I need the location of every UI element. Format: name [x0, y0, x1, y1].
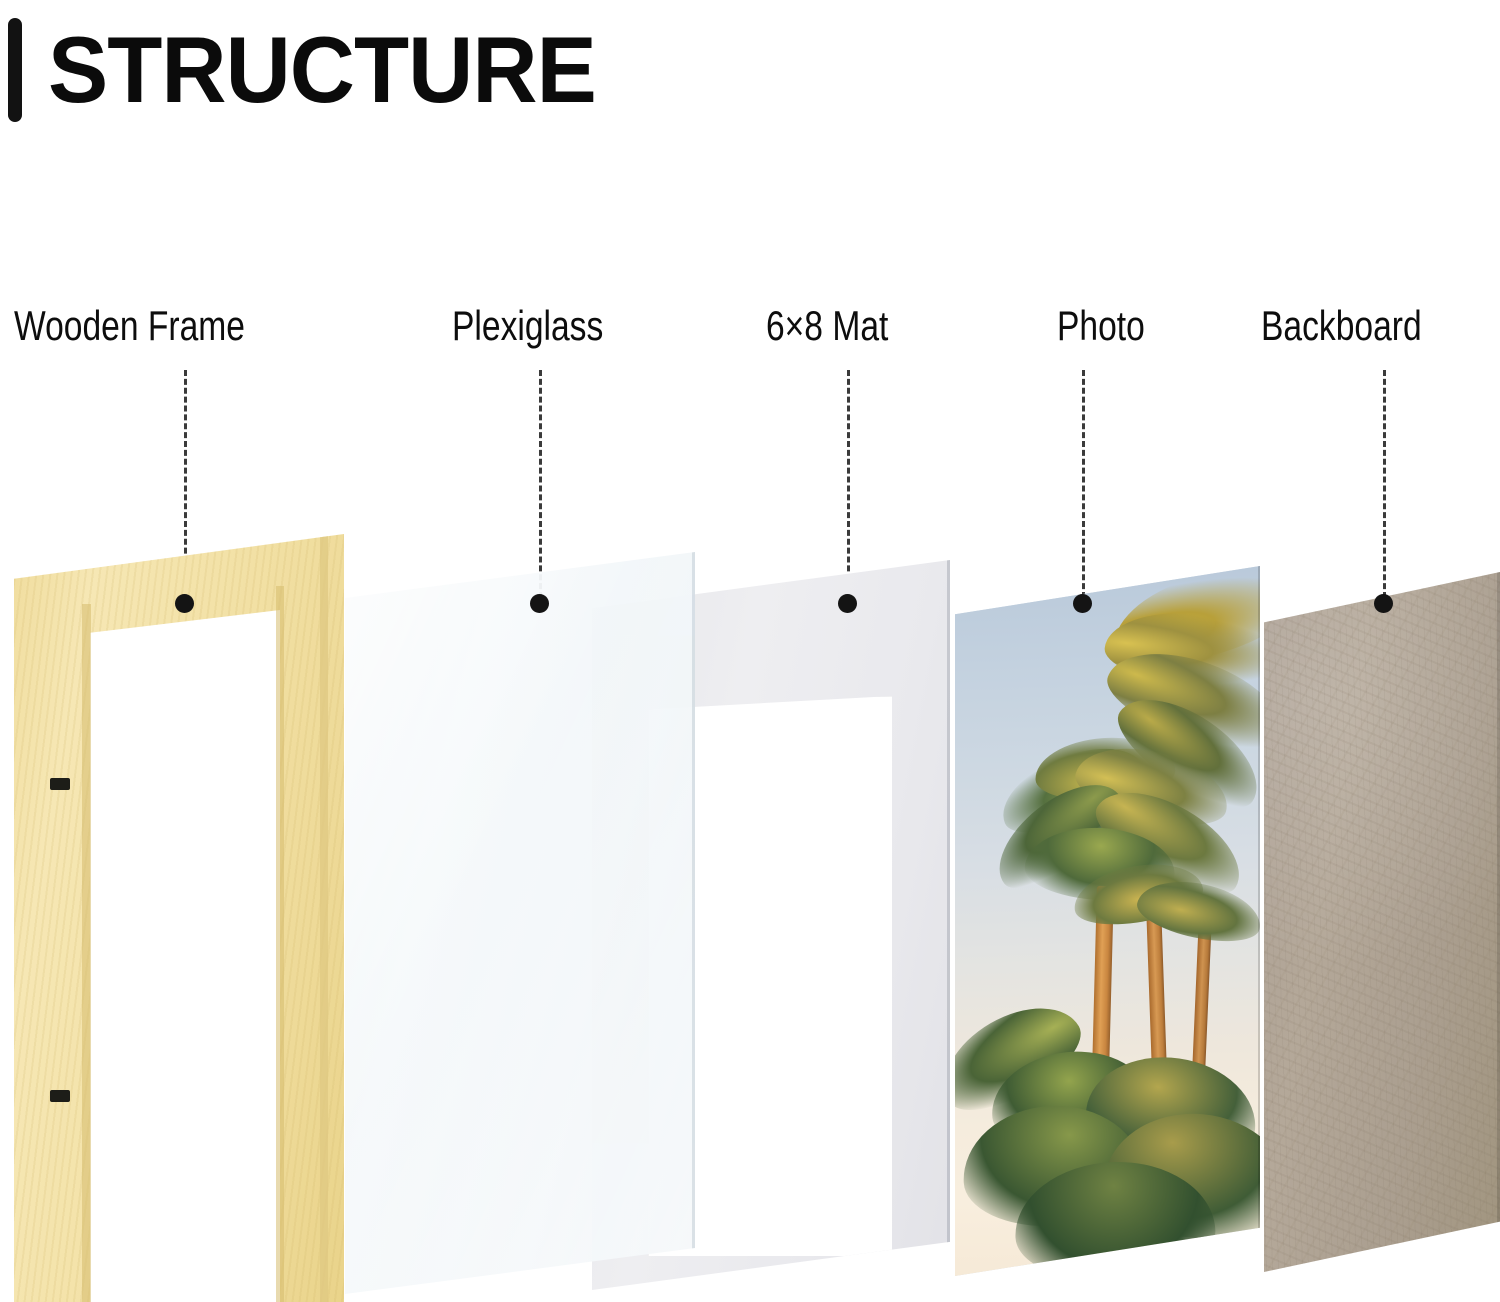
callout-dot-backboard	[1374, 594, 1393, 613]
diagram-canvas: STRUCTURE Wooden Frame Plexiglass 6×8 Ma…	[0, 0, 1500, 1302]
layer-plexiglass	[345, 552, 695, 1294]
layer-backboard	[1264, 572, 1500, 1272]
label-plexiglass: Plexiglass	[452, 302, 603, 350]
leader-line-mat	[847, 370, 850, 598]
frame-inner-opening	[90, 610, 280, 1302]
frame-clip-upper	[50, 778, 70, 790]
backboard-texture	[1264, 572, 1500, 1272]
frame-outer-right-edge	[320, 534, 328, 1302]
leader-line-photo	[1082, 370, 1085, 598]
label-backboard: Backboard	[1261, 302, 1422, 350]
label-mat: 6×8 Mat	[766, 302, 888, 350]
callout-dot-wooden-frame	[175, 594, 194, 613]
layer-photo	[955, 566, 1260, 1276]
callout-dot-photo	[1073, 594, 1092, 613]
title-accent-bar	[8, 18, 22, 122]
callout-dot-plexiglass	[530, 594, 549, 613]
wooden-frame-face	[14, 534, 344, 1302]
plexiglass-sheen	[345, 552, 695, 1294]
frame-clip-lower	[50, 1090, 70, 1102]
mat-right-edge	[947, 560, 950, 1290]
leader-line-plexiglass	[539, 370, 542, 598]
page-title: STRUCTURE	[0, 18, 619, 122]
label-photo: Photo	[1057, 302, 1145, 350]
callout-dot-mat	[838, 594, 857, 613]
photo-right-edge	[1258, 566, 1260, 1276]
plexiglass-right-edge	[692, 552, 695, 1294]
frame-inner-left-bevel	[82, 604, 91, 1302]
frame-inner-right-bevel	[276, 586, 284, 1302]
leader-line-backboard	[1383, 370, 1386, 598]
label-wooden-frame: Wooden Frame	[14, 302, 245, 350]
title-text: STRUCTURE	[48, 18, 596, 122]
